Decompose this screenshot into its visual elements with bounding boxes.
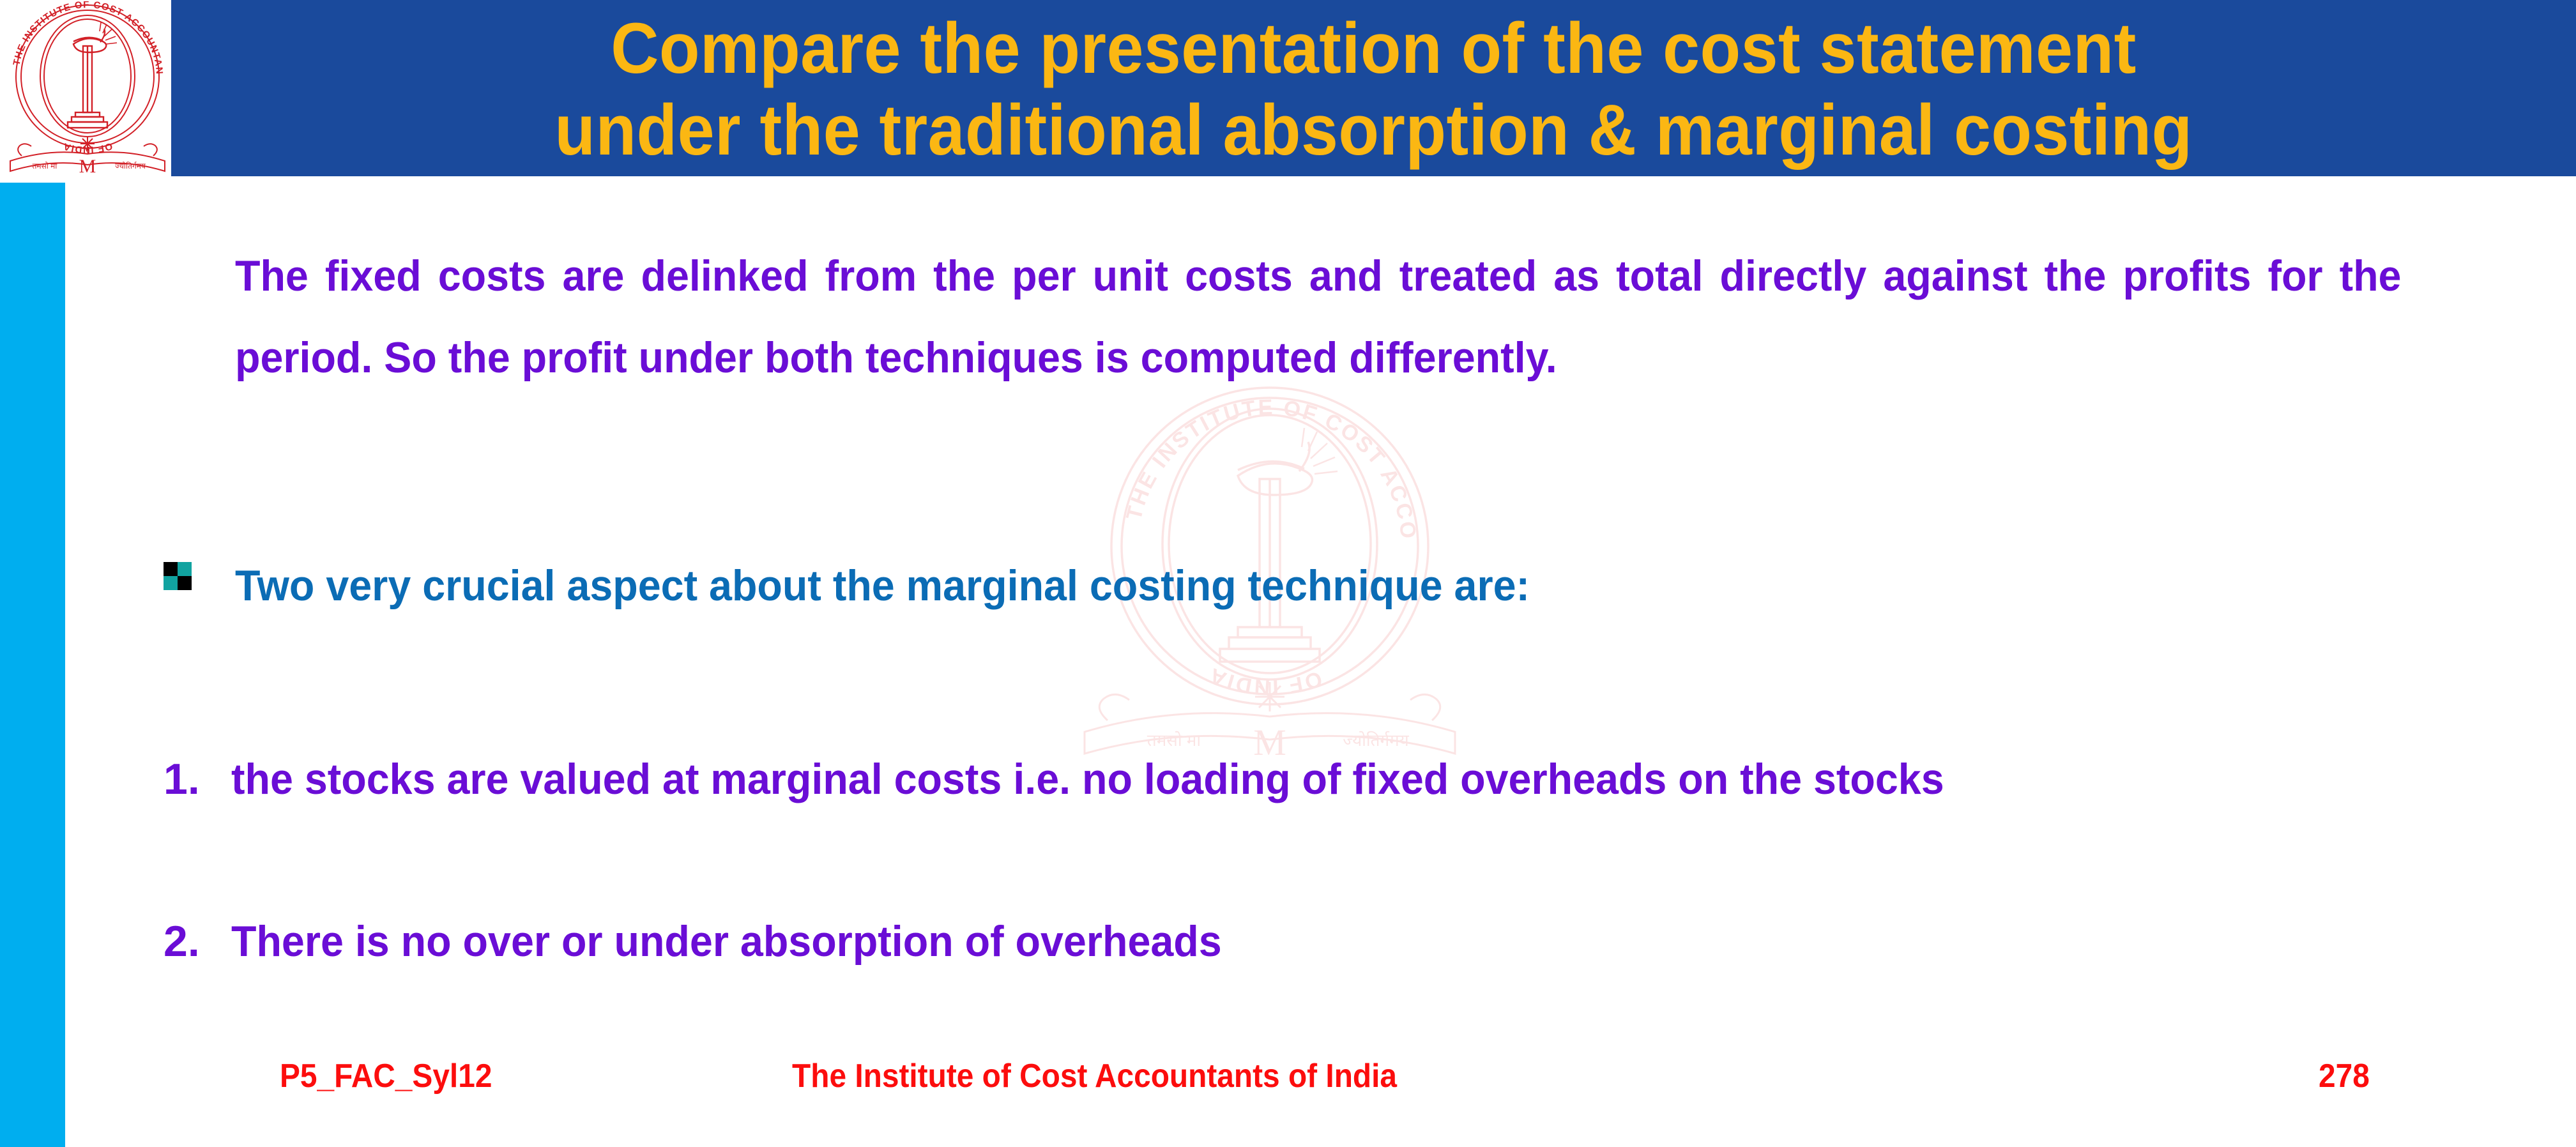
footer-institute-name: The Institute of Cost Accountants of Ind… (792, 1057, 1397, 1095)
bullet-item-fixed-costs: The fixed costs are delinked from the pe… (164, 235, 2527, 399)
bullet-text-two-crucial-aspects: Two very crucial aspect about the margin… (235, 548, 2402, 623)
numbered-item-2: 2. There is no over or under absorption … (164, 900, 2527, 982)
svg-text:M: M (79, 156, 96, 177)
numbered-item-2-number: 2. (164, 900, 231, 982)
svg-text:तमसो मा: तमसो मा (33, 162, 58, 171)
numbered-item-1: 1. the stocks are valued at marginal cos… (164, 738, 2527, 820)
numbered-item-2-text: There is no over or under absorption of … (231, 900, 2412, 982)
slide-body: The fixed costs are delinked from the pe… (0, 183, 2576, 1032)
institute-logo-icon: M तमसो मा ज्योतिर्गमय THE INSTITUTE OF C… (4, 1, 171, 183)
slide-footer: P5_FAC_Syl12 The Institute of Cost Accou… (0, 1057, 2576, 1121)
svg-text:ज्योतिर्गमय: ज्योतिर्गमय (115, 162, 146, 171)
numbered-item-1-text: the stocks are valued at marginal costs … (231, 738, 2412, 820)
checkerboard-bullet-icon (164, 562, 193, 591)
footer-page-number: 278 (2319, 1057, 2370, 1095)
numbered-item-1-number: 1. (164, 738, 231, 820)
footer-paper-code: P5_FAC_Syl12 (280, 1057, 492, 1095)
presentation-slide: M तमसो मा ज्योतिर्गमय THE INSTITUTE OF C… (0, 0, 2576, 1147)
bullet-item-two-crucial-aspects: Two very crucial aspect about the margin… (164, 548, 2527, 623)
page-title: Compare the presentation of the cost sta… (255, 1, 2492, 176)
sphere-bullet-icon (164, 249, 193, 278)
bullet-text-fixed-costs: The fixed costs are delinked from the pe… (235, 235, 2402, 399)
